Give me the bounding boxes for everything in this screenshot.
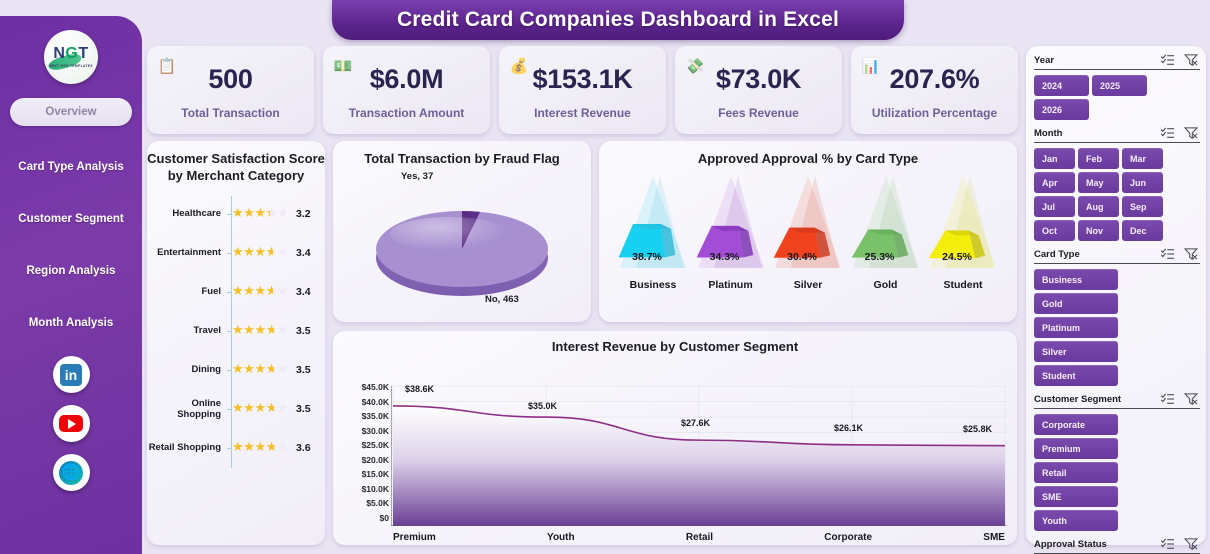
- pyramid-label: Silver: [772, 279, 844, 291]
- slicer-approval-status: Approval StatusApprovedDeclinedPending: [1034, 538, 1200, 554]
- satisfaction-row: Healthcare★★★★★★★★★★3.2: [147, 194, 325, 233]
- star-rating-fill: ★★★★★: [232, 246, 273, 260]
- multi-select-icon[interactable]: [1161, 393, 1175, 405]
- satisfaction-row: Travel★★★★★★★★★★3.5: [147, 311, 325, 350]
- kpi-label: Fees Revenue: [718, 106, 799, 120]
- star-rating: ★★★★★★★★★★: [232, 207, 292, 221]
- slicer-year: Year202420252026: [1034, 54, 1200, 120]
- slicer-option-2024[interactable]: 2024: [1034, 75, 1089, 96]
- pyramid-value: 38.7%: [617, 251, 677, 263]
- sidebar-item-region-analysis[interactable]: Region Analysis: [6, 260, 136, 282]
- slicer-option-dec[interactable]: Dec: [1122, 220, 1163, 241]
- slicer-divider: [1034, 263, 1200, 264]
- kpi-value: $153.1K: [533, 64, 633, 95]
- x-axis-ticks: PremiumYouthRetailCorporateSME: [393, 532, 1005, 543]
- clear-filter-icon[interactable]: [1184, 538, 1198, 550]
- x-tick-label: Youth: [547, 532, 575, 543]
- y-tick-label: $40.0K: [339, 398, 389, 407]
- pyramid-value: 25.3%: [850, 251, 910, 263]
- pyramid-value: 24.5%: [927, 251, 987, 263]
- slicer-card-type: Card TypeBusinessGoldPlatinumSilverStude…: [1034, 248, 1200, 386]
- x-tick-label: Corporate: [824, 532, 872, 543]
- clear-filter-icon[interactable]: [1184, 248, 1198, 260]
- money-bag-icon: 💰: [508, 55, 530, 77]
- kpi-value: $6.0M: [370, 64, 444, 95]
- slicer-divider: [1034, 142, 1200, 143]
- social-links: in 🌐: [53, 356, 90, 491]
- pie-graphic: [376, 211, 548, 295]
- y-tick-label: $15.0K: [339, 470, 389, 479]
- slicer-option-jul[interactable]: Jul: [1034, 196, 1075, 217]
- sidebar-item-card-type-analysis[interactable]: Card Type Analysis: [6, 156, 136, 178]
- pyramid-label: Business: [617, 279, 689, 291]
- page-title: Credit Card Companies Dashboard in Excel: [332, 0, 904, 40]
- kpi-value: $73.0K: [716, 64, 801, 95]
- data-label: $35.0K: [528, 401, 557, 411]
- satisfaction-row: Fuel★★★★★★★★★★3.4: [147, 272, 325, 311]
- slicer-title: Year: [1034, 55, 1054, 66]
- satisfaction-category: Fuel: [147, 286, 227, 297]
- satisfaction-category: Travel: [147, 325, 227, 336]
- slicer-header: Customer Segment: [1034, 393, 1200, 405]
- satisfaction-title: Customer Satisfaction Score by Merchant …: [147, 141, 325, 184]
- fraud-pie-panel: Total Transaction by Fraud Flag Yes, 37 …: [333, 141, 591, 322]
- slicer-icons: [1161, 393, 1198, 405]
- hand-coin-icon: 💸: [684, 55, 706, 77]
- pyramid-bar: 34.3%Platinum: [695, 173, 767, 293]
- interest-revenue-panel: Interest Revenue by Customer Segment $45…: [333, 331, 1017, 545]
- slicer-option-corporate[interactable]: Corporate: [1034, 414, 1118, 435]
- slicer-option-sme[interactable]: SME: [1034, 486, 1118, 507]
- y-tick-label: $20.0K: [339, 456, 389, 465]
- slicer-title: Card Type: [1034, 249, 1080, 260]
- slicer-options: CorporatePremiumRetailSMEYouth: [1034, 414, 1200, 531]
- star-rating-fill: ★★★★★: [232, 402, 274, 416]
- slicer-header: Year: [1034, 54, 1200, 66]
- approval-pyramid-panel: Approved Approval % by Card Type 38.7%Bu…: [599, 141, 1017, 322]
- kpi-row: 📋 500 Total Transaction 💵 $6.0M Transact…: [147, 46, 1018, 134]
- slicer-option-youth[interactable]: Youth: [1034, 510, 1118, 531]
- fraud-pie-chart: Yes, 37 No, 463: [333, 167, 591, 307]
- slicer-header: Month: [1034, 127, 1200, 139]
- data-label: $38.6K: [405, 384, 434, 394]
- interest-revenue-chart: $45.0K$40.0K$35.0K$30.0K$25.0K$20.0K$15.…: [333, 356, 1017, 542]
- star-rating-fill: ★★★★★: [232, 441, 275, 455]
- pie-label-yes: Yes, 37: [401, 171, 433, 182]
- data-label: $25.8K: [963, 424, 992, 434]
- satisfaction-row: Dining★★★★★★★★★★3.5: [147, 350, 325, 389]
- slicer-option-aug[interactable]: Aug: [1078, 196, 1119, 217]
- slicer-month: MonthJanFebMarAprMayJunJulAugSepOctNovDe…: [1034, 127, 1200, 241]
- y-tick-label: $45.0K: [339, 383, 389, 392]
- slicer-option-may[interactable]: May: [1078, 172, 1119, 193]
- multi-select-icon[interactable]: [1161, 54, 1175, 66]
- y-tick-label: $10.0K: [339, 485, 389, 494]
- clipboard-list-icon: 📋: [156, 55, 178, 77]
- pyramid-bar: 25.3%Gold: [850, 173, 922, 293]
- slicer-icons: [1161, 54, 1198, 66]
- kpi-value: 207.6%: [890, 64, 980, 95]
- logo-tagline: NEXT GEN TEMPLATES: [49, 64, 93, 68]
- slicer-header: Card Type: [1034, 248, 1200, 260]
- slicer-title: Approval Status: [1034, 539, 1107, 550]
- slicer-option-student[interactable]: Student: [1034, 365, 1118, 386]
- pie-top: [376, 211, 548, 287]
- sidebar-item-customer-segment[interactable]: Customer Segment: [6, 208, 136, 230]
- kpi-label: Total Transaction: [181, 106, 279, 120]
- kpi-label: Utilization Percentage: [872, 106, 997, 120]
- slicer-option-2025[interactable]: 2025: [1092, 75, 1147, 96]
- satisfaction-score: 3.5: [296, 403, 311, 415]
- y-tick-label: $30.0K: [339, 427, 389, 436]
- sidebar-item-month-analysis[interactable]: Month Analysis: [6, 312, 136, 334]
- kpi-card-fees-revenue: 💸 $73.0K Fees Revenue: [675, 46, 842, 134]
- slicer-customer-segment: Customer SegmentCorporatePremiumRetailSM…: [1034, 393, 1200, 531]
- slicer-option-silver[interactable]: Silver: [1034, 341, 1118, 362]
- x-tick-label: SME: [983, 532, 1005, 543]
- slicer-option-mar[interactable]: Mar: [1122, 148, 1163, 169]
- slicer-option-retail[interactable]: Retail: [1034, 462, 1118, 483]
- satisfaction-panel: Customer Satisfaction Score by Merchant …: [147, 141, 325, 545]
- kpi-value: 500: [208, 64, 252, 95]
- pyramid-bar: 38.7%Business: [617, 173, 689, 293]
- dashboard-root: NGT NEXT GEN TEMPLATES Overview Card Typ…: [0, 0, 1210, 554]
- slicer-options: JanFebMarAprMayJunJulAugSepOctNovDec: [1034, 148, 1200, 241]
- data-label: $26.1K: [834, 423, 863, 433]
- satisfaction-score: 3.4: [296, 247, 311, 259]
- sidebar: NGT NEXT GEN TEMPLATES Overview Card Typ…: [0, 16, 142, 554]
- satisfaction-score: 3.5: [296, 325, 311, 337]
- multi-select-icon[interactable]: [1161, 248, 1175, 260]
- satisfaction-score: 3.4: [296, 286, 311, 298]
- pyramid-label: Gold: [850, 279, 922, 291]
- satisfaction-score: 3.5: [296, 364, 311, 376]
- y-tick-label: $35.0K: [339, 412, 389, 421]
- slicer-option-oct[interactable]: Oct: [1034, 220, 1075, 241]
- star-rating-fill: ★★★★★: [232, 324, 274, 338]
- slicer-option-premium[interactable]: Premium: [1034, 438, 1118, 459]
- multi-select-icon[interactable]: [1161, 127, 1175, 139]
- chart-coin-icon: 📊: [860, 55, 882, 77]
- slicer-options: 202420252026: [1034, 75, 1200, 120]
- satisfaction-category: Entertainment: [147, 247, 227, 258]
- x-tick-label: Retail: [686, 532, 713, 543]
- kpi-label: Interest Revenue: [534, 106, 631, 120]
- slicer-option-apr[interactable]: Apr: [1034, 172, 1075, 193]
- pyramid-label: Platinum: [695, 279, 767, 291]
- star-rating: ★★★★★★★★★★: [232, 441, 292, 455]
- slicer-option-gold[interactable]: Gold: [1034, 293, 1118, 314]
- slicer-title: Month: [1034, 128, 1063, 139]
- y-tick-label: $0: [339, 514, 389, 523]
- star-rating: ★★★★★★★★★★: [232, 363, 292, 377]
- slicer-icons: [1161, 127, 1198, 139]
- pyramid-value: 30.4%: [772, 251, 832, 263]
- satisfaction-category: Retail Shopping: [147, 442, 227, 453]
- star-rating-fill: ★★★★★: [232, 363, 274, 377]
- sidebar-item-overview[interactable]: Overview: [10, 98, 132, 126]
- satisfaction-list: Healthcare★★★★★★★★★★3.2Entertainment★★★★…: [147, 194, 325, 467]
- slicer-option-jan[interactable]: Jan: [1034, 148, 1075, 169]
- satisfaction-row: Entertainment★★★★★★★★★★3.4: [147, 233, 325, 272]
- slicer-option-feb[interactable]: Feb: [1078, 148, 1119, 169]
- money-stack-icon: 💵: [332, 55, 354, 77]
- slicer-option-2026[interactable]: 2026: [1034, 99, 1089, 120]
- satisfaction-category: Healthcare: [147, 208, 227, 219]
- slicer-option-platinum[interactable]: Platinum: [1034, 317, 1118, 338]
- filter-panel: Year202420252026MonthJanFebMarAprMayJunJ…: [1026, 46, 1206, 545]
- satisfaction-score: 3.2: [296, 208, 311, 220]
- youtube-icon[interactable]: [53, 405, 90, 442]
- satisfaction-score: 3.6: [296, 442, 311, 454]
- satisfaction-row: Online Shopping★★★★★★★★★★3.5: [147, 389, 325, 428]
- pyramid-value: 34.3%: [695, 251, 755, 263]
- website-icon[interactable]: 🌐: [53, 454, 90, 491]
- logo-mark: NGT: [53, 46, 88, 62]
- approval-pyramid-chart: 38.7%Business34.3%Platinum30.4%Silver25.…: [617, 173, 999, 293]
- fraud-pie-title: Total Transaction by Fraud Flag: [333, 141, 591, 167]
- star-rating: ★★★★★★★★★★: [232, 324, 292, 338]
- slicer-header: Approval Status: [1034, 538, 1200, 550]
- clear-filter-icon[interactable]: [1184, 393, 1198, 405]
- slicer-option-business[interactable]: Business: [1034, 269, 1118, 290]
- kpi-label: Transaction Amount: [349, 106, 465, 120]
- approval-pyramid-title: Approved Approval % by Card Type: [599, 141, 1017, 167]
- clear-filter-icon[interactable]: [1184, 54, 1198, 66]
- star-rating: ★★★★★★★★★★: [232, 402, 292, 416]
- slicer-option-nov[interactable]: Nov: [1078, 220, 1119, 241]
- star-rating: ★★★★★★★★★★: [232, 285, 292, 299]
- logo: NGT NEXT GEN TEMPLATES: [44, 30, 98, 84]
- satisfaction-category: Dining: [147, 364, 227, 375]
- satisfaction-row: Retail Shopping★★★★★★★★★★3.6: [147, 428, 325, 467]
- y-tick-label: $25.0K: [339, 441, 389, 450]
- slicer-icons: [1161, 538, 1198, 550]
- pyramid-label: Student: [927, 279, 999, 291]
- pyramid-bar: 24.5%Student: [927, 173, 999, 293]
- linkedin-icon[interactable]: in: [53, 356, 90, 393]
- pie-label-no: No, 463: [485, 294, 519, 305]
- slicer-option-jun[interactable]: Jun: [1122, 172, 1163, 193]
- multi-select-icon[interactable]: [1161, 538, 1175, 550]
- y-axis-ticks: $45.0K$40.0K$35.0K$30.0K$25.0K$20.0K$15.…: [339, 383, 389, 523]
- kpi-card-total-transaction: 📋 500 Total Transaction: [147, 46, 314, 134]
- data-label: $27.6K: [681, 418, 710, 428]
- interest-revenue-title: Interest Revenue by Customer Segment: [333, 331, 1017, 354]
- slicer-option-sep[interactable]: Sep: [1122, 196, 1163, 217]
- slicer-icons: [1161, 248, 1198, 260]
- clear-filter-icon[interactable]: [1184, 127, 1198, 139]
- star-rating: ★★★★★★★★★★: [232, 246, 292, 260]
- slicer-options: BusinessGoldPlatinumSilverStudent: [1034, 269, 1200, 386]
- x-tick-label: Premium: [393, 532, 436, 543]
- kpi-card-transaction-amount: 💵 $6.0M Transaction Amount: [323, 46, 490, 134]
- y-tick-label: $5.0K: [339, 499, 389, 508]
- satisfaction-category: Online Shopping: [147, 398, 227, 420]
- pyramid-bar: 30.4%Silver: [772, 173, 844, 293]
- slicer-title: Customer Segment: [1034, 394, 1121, 405]
- star-rating-fill: ★★★★★: [232, 207, 270, 221]
- kpi-card-interest-revenue: 💰 $153.1K Interest Revenue: [499, 46, 666, 134]
- slicer-divider: [1034, 69, 1200, 70]
- star-rating-fill: ★★★★★: [232, 285, 273, 299]
- slicer-divider: [1034, 408, 1200, 409]
- area-series: [391, 380, 1007, 526]
- kpi-card-utilization-percentage: 📊 207.6% Utilization Percentage: [851, 46, 1018, 134]
